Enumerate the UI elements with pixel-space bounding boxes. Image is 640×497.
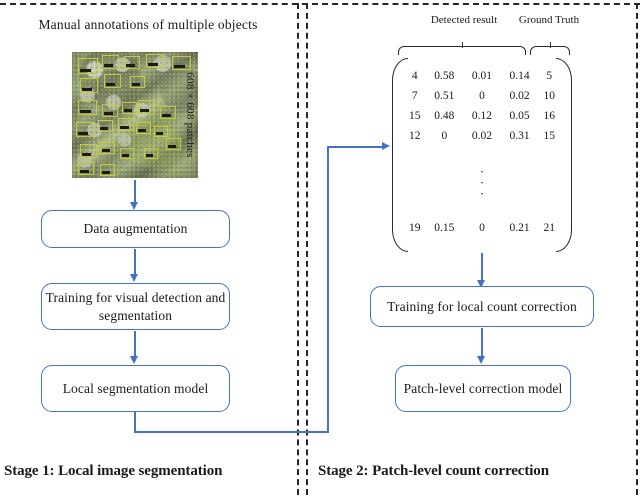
matrix-cell: 12 xyxy=(404,126,426,146)
brace-detected-result xyxy=(398,46,526,55)
brace-nib xyxy=(550,42,551,48)
box-training-detection-segmentation-label: Training for visual detection and segmen… xyxy=(42,289,229,324)
matrix-cell: 0.31 xyxy=(501,126,539,146)
matrix-cell: 16 xyxy=(538,106,560,126)
table-row: 19 0.15 0 0.21 21 xyxy=(404,218,560,238)
matrix-cell: 0.58 xyxy=(426,66,464,86)
arrow-training-to-model xyxy=(134,331,136,358)
figure-canvas: Manual annotations of multiple objects 6… xyxy=(0,0,640,497)
box-training-local-count-correction-label: Training for local count correction xyxy=(387,298,577,315)
dashed-stage-divider-right xyxy=(306,3,308,495)
ellipsis-dot: · xyxy=(392,188,572,199)
connector-right-into-matrix xyxy=(327,146,384,148)
matrix-cell: 10 xyxy=(538,86,560,106)
detection-matrix: 4 0.58 0.01 0.14 5 7 0.51 0 0.02 10 15 0… xyxy=(392,58,572,252)
arrowhead-down-patch-model xyxy=(477,356,485,364)
matrix-table: 4 0.58 0.01 0.14 5 7 0.51 0 0.02 10 15 0… xyxy=(404,66,560,238)
matrix-cell: 15 xyxy=(404,106,426,126)
table-row: 7 0.51 0 0.02 10 xyxy=(404,86,560,106)
matrix-cell: 0.02 xyxy=(463,126,501,146)
matrix-cell: 0.21 xyxy=(501,218,539,238)
matrix-cell: 0.51 xyxy=(426,86,464,106)
arrow-image-to-augmentation xyxy=(134,180,136,204)
matrix-cell: 21 xyxy=(538,218,560,238)
box-patch-level-correction-model-label: Patch-level correction model xyxy=(404,380,563,397)
box-local-segmentation-model[interactable]: Local segmentation model xyxy=(41,365,230,412)
matrix-cell: 0.48 xyxy=(426,106,464,126)
brace-nib xyxy=(462,42,463,48)
annotated-aerial-image-patch xyxy=(72,52,198,178)
arrowhead-down-local-model xyxy=(130,356,138,364)
matrix-cell: 19 xyxy=(404,218,426,238)
arrow-matrix-to-count-training xyxy=(481,253,483,282)
dashed-right-border xyxy=(636,3,638,495)
stage2-label: Stage 2: Patch-level count correction xyxy=(318,463,549,480)
stage1-label: Stage 1: Local image segmentation xyxy=(4,463,222,480)
table-row: 12 0 0.02 0.31 15 xyxy=(404,126,560,146)
matrix-vertical-ellipsis: · · · xyxy=(392,166,572,199)
box-local-segmentation-model-label: Local segmentation model xyxy=(63,380,209,397)
arrowhead-down-training xyxy=(130,274,138,282)
matrix-cell: 4 xyxy=(404,66,426,86)
matrix-cell: 0.02 xyxy=(501,86,539,106)
matrix-cell: 5 xyxy=(538,66,560,86)
box-patch-level-correction-model[interactable]: Patch-level correction model xyxy=(395,365,571,412)
dashed-top-border xyxy=(0,3,640,5)
matrix-cell: 7 xyxy=(404,86,426,106)
stage1-title: Manual annotations of multiple objects xyxy=(8,17,288,33)
brace-ground-truth xyxy=(530,46,570,55)
box-training-local-count-correction[interactable]: Training for local count correction xyxy=(370,286,594,327)
connector-down-from-local-model xyxy=(134,412,136,432)
dashed-stage-divider-left xyxy=(297,3,299,495)
box-training-detection-segmentation[interactable]: Training for visual detection and segmen… xyxy=(41,283,230,330)
matrix-cell: 15 xyxy=(538,126,560,146)
box-data-augmentation[interactable]: Data augmentation xyxy=(41,210,230,248)
matrix-cell: 0.01 xyxy=(463,66,501,86)
matrix-cell: 0.05 xyxy=(501,106,539,126)
patch-size-label: 608 × 608 patches xyxy=(184,52,196,178)
matrix-cell: 0.12 xyxy=(463,106,501,126)
matrix-header-detected-result: Detected result xyxy=(404,14,524,28)
connector-up-to-matrix xyxy=(327,147,329,432)
matrix-cell: 0 xyxy=(426,126,464,146)
connector-right-to-stage2 xyxy=(134,431,329,433)
matrix-cell: 0.14 xyxy=(501,66,539,86)
matrix-header-ground-truth: Ground Truth xyxy=(518,14,580,28)
arrow-augmentation-to-training xyxy=(134,249,136,276)
table-row: 15 0.48 0.12 0.05 16 xyxy=(404,106,560,126)
matrix-cell: 0 xyxy=(463,218,501,238)
arrowhead-down-augmentation xyxy=(130,202,138,210)
table-row: 4 0.58 0.01 0.14 5 xyxy=(404,66,560,86)
arrowhead-right-matrix xyxy=(382,142,390,150)
arrow-count-training-to-model xyxy=(481,328,483,358)
box-data-augmentation-label: Data augmentation xyxy=(83,220,187,237)
matrix-cell: 0.15 xyxy=(426,218,464,238)
matrix-cell: 0 xyxy=(463,86,501,106)
